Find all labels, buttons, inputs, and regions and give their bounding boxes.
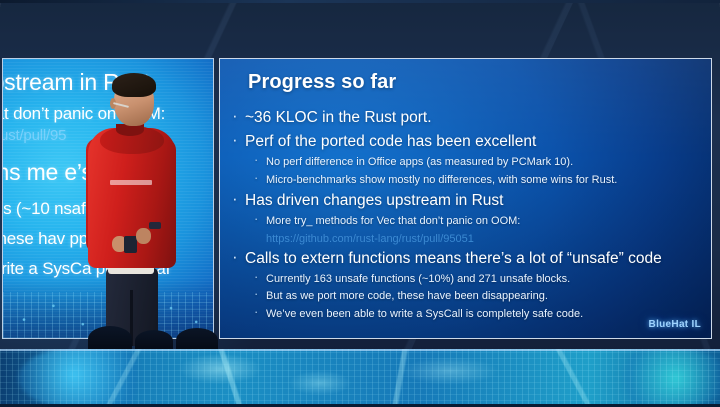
bullet-level1: Perf of the ported code has been excelle…	[228, 130, 708, 154]
bluehat-il-logo: BlueHat IL	[649, 319, 701, 330]
bullet-level2: But as we port more code, these have bee…	[228, 288, 708, 306]
speaker-wristwatch	[149, 222, 161, 229]
speaker-hair	[112, 73, 156, 97]
bullet-level2: Micro-benchmarks show mostly no differen…	[228, 172, 708, 190]
speaker-figure	[86, 76, 178, 341]
speaker-clicker-device	[124, 236, 137, 253]
led-band-network-arcs	[0, 349, 720, 407]
bullet-level2: More try_ methods for Vec that don’t pan…	[228, 213, 708, 231]
bullet-level2: No perf difference in Office apps (as me…	[228, 154, 708, 172]
speaker-hoodie-logo	[110, 180, 152, 185]
bullet-level2: Currently 163 unsafe functions (~10%) an…	[228, 271, 708, 289]
bullet-link-url[interactable]: https://github.com/rust-lang/rust/pull/9…	[228, 231, 708, 247]
speaker-right-hand	[136, 228, 151, 244]
bullet-level2: We’ve even been able to write a SysCall …	[228, 306, 708, 324]
presentation-slide: Progress so far ~36 KLOC in the Rust por…	[219, 58, 712, 339]
slide-title: Progress so far	[248, 71, 396, 94]
bullet-level1: Calls to extern functions means there’s …	[228, 247, 708, 271]
slide-bullet-list: ~36 KLOC in the Rust port. Perf of the p…	[228, 106, 708, 323]
stage-led-band	[0, 349, 720, 407]
screenshot-root: upstream in Rust that don’t panic on OOM…	[0, 0, 720, 407]
led-band-top-edge	[0, 349, 720, 351]
bullet-level1: ~36 KLOC in the Rust port.	[228, 106, 708, 130]
top-edge-line	[0, 0, 720, 3]
bullet-level1: Has driven changes upstream in Rust	[228, 189, 708, 213]
